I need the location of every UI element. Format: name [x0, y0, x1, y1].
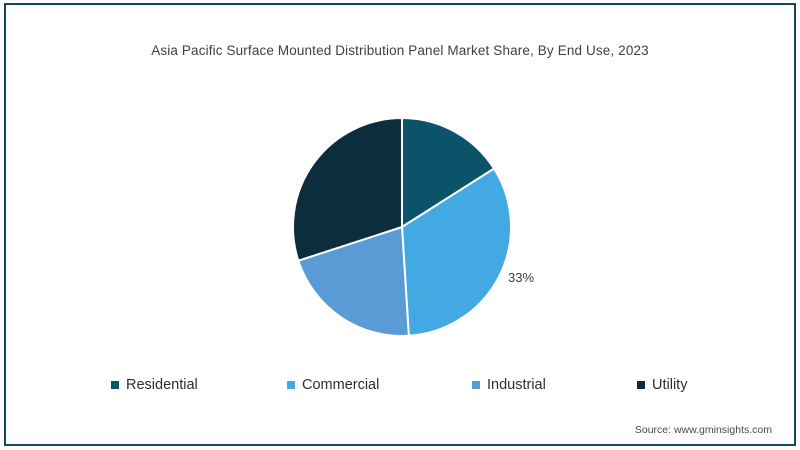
legend-label-utility: Utility	[652, 377, 687, 393]
legend-swatch-utility	[637, 381, 645, 389]
legend-item-industrial[interactable]: Industrial	[472, 374, 546, 396]
legend-label-residential: Residential	[126, 377, 198, 393]
chart-legend: Residential Commercial Industrial Utilit…	[0, 374, 800, 396]
pie-slice-group	[293, 118, 511, 336]
chart-card: Asia Pacific Surface Mounted Distributio…	[0, 0, 800, 450]
legend-item-commercial[interactable]: Commercial	[287, 374, 379, 396]
source-attribution: Source: www.gminsights.com	[635, 424, 772, 436]
legend-swatch-residential	[111, 381, 119, 389]
legend-label-commercial: Commercial	[302, 377, 379, 393]
legend-item-utility[interactable]: Utility	[637, 374, 687, 396]
legend-swatch-industrial	[472, 381, 480, 389]
legend-item-residential[interactable]: Residential	[111, 374, 198, 396]
pie-chart	[292, 117, 512, 337]
legend-label-industrial: Industrial	[487, 377, 546, 393]
pie-data-label-commercial: 33%	[508, 270, 534, 285]
chart-title: Asia Pacific Surface Mounted Distributio…	[0, 43, 800, 58]
legend-swatch-commercial	[287, 381, 295, 389]
pie-chart-svg	[292, 117, 512, 337]
